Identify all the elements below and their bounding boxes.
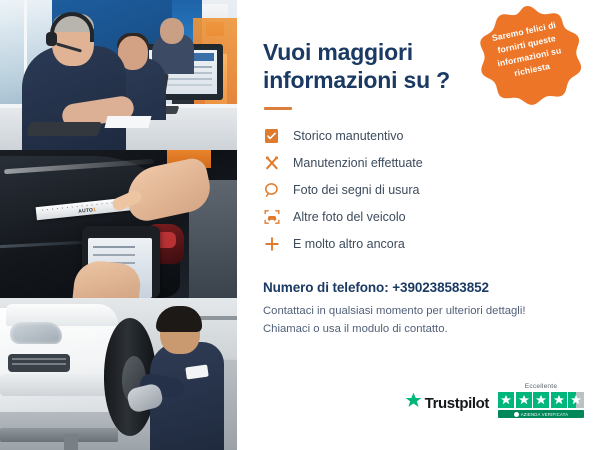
feature-item-altre-foto-veicolo: Altre foto del veicolo (263, 203, 578, 230)
ruler-brand-mark: AUTO1 (78, 207, 96, 215)
rating-label: Eccellente (525, 383, 557, 390)
star-1 (498, 392, 514, 408)
title-divider (264, 107, 292, 110)
feature-item-manutenzioni-effettuate: Manutenzioni effettuate (263, 149, 578, 176)
verified-label: AZIENDA VERIFICATA (521, 412, 569, 417)
car-frame-icon (263, 208, 280, 225)
mechanic-hair (156, 306, 202, 332)
contact-instructions: Contattaci in qualsiasi momento per ulte… (263, 303, 578, 338)
car-grille (8, 354, 70, 372)
agent-3-head (160, 18, 184, 44)
checklist-document-icon (263, 127, 280, 144)
star-4 (551, 392, 567, 408)
photo-call-center-agents-with-headsets (0, 0, 237, 150)
desk-papers (105, 116, 152, 128)
magnifier-icon (263, 181, 280, 198)
desk-keyboard (26, 122, 102, 136)
car-bumper (0, 374, 120, 396)
trustpilot-brand-name: Trustpilot (425, 395, 489, 412)
feature-label: Foto dei segni di usura (293, 183, 419, 197)
promo-badge: Saremo felici di fornirti queste informa… (466, 4, 589, 124)
trustpilot-logo[interactable]: Trustpilot (405, 392, 489, 418)
photo-vehicle-damage-inspection-tablet: AUTO1 (0, 150, 237, 298)
badge-text: Saremo felici di fornirti queste informa… (481, 17, 574, 85)
phone-number-label[interactable]: Numero di telefono: +390238583852 (263, 280, 578, 295)
star-3 (533, 392, 549, 408)
trustpilot-score-block: Eccellente (498, 383, 584, 419)
feature-label: Altre foto del veicolo (293, 210, 406, 224)
feature-label: E molto altro ancora (293, 237, 405, 251)
page-title: Vuoi maggiori informazioni su ? (263, 38, 478, 94)
plus-icon (263, 235, 280, 252)
feature-item-molto-altro-ancora: E molto altro ancora (263, 230, 578, 257)
verified-business-badge: AZIENDA VERIFICATA (498, 410, 584, 418)
badge-content: Saremo felici di fornirti queste informa… (466, 4, 589, 124)
star-2 (516, 392, 532, 408)
content-panel: Vuoi maggiori informazioni su ? Storico … (237, 0, 600, 450)
contact-line-2: Chiamaci o usa il modulo di contatto. (263, 321, 578, 339)
trustpilot-rating[interactable]: Trustpilot Eccellente (405, 383, 584, 419)
wrench-screwdriver-icon (263, 154, 280, 171)
car-headlight (10, 322, 62, 344)
verified-check-icon (514, 412, 519, 417)
car-lift-arm (0, 428, 118, 442)
heading-line-2: informazioni su ? (263, 67, 450, 93)
feature-label: Manutenzioni effettuate (293, 156, 423, 170)
feature-list: Storico manutentivo Manutenzioni effettu… (263, 122, 578, 257)
photo-mechanic-inspecting-wheel-on-lift (0, 298, 237, 450)
photo-column: AUTO1 (0, 0, 237, 450)
trustpilot-star-icon (405, 392, 422, 414)
feature-item-foto-segni-usura: Foto dei segni di usura (263, 176, 578, 203)
star-5-half (568, 392, 584, 408)
contact-line-1: Contattaci in qualsiasi momento per ulte… (263, 303, 578, 321)
car-lift-post (64, 434, 78, 450)
heading-line-1: Vuoi maggiori (263, 39, 413, 65)
feature-label: Storico manutentivo (293, 129, 403, 143)
feature-item-storico-manutentivo: Storico manutentivo (263, 122, 578, 149)
promo-banner: AUTO1 (0, 0, 600, 450)
star-rating (498, 392, 584, 408)
